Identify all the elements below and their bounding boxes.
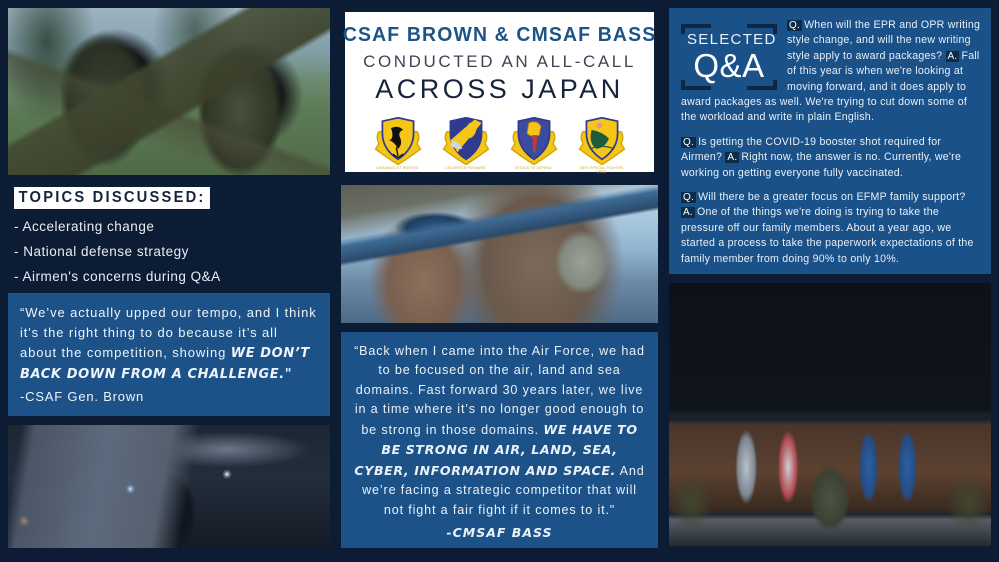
quote-card-csaf-brown: “We’ve actually upped our tempo, and I t… xyxy=(8,293,330,416)
answer-tag: A. xyxy=(725,152,739,163)
title-card: CSAF BROWN & CMSAF BASS CONDUCTED AN ALL… xyxy=(341,8,658,176)
title-line-1: CSAF BROWN & CMSAF BASS xyxy=(343,24,656,47)
badge-qa-label: Q&A xyxy=(687,49,771,82)
center-column: CSAF BROWN & CMSAF BASS CONDUCTED AN ALL… xyxy=(341,8,658,548)
topics-heading: TOPICS DISCUSSED: xyxy=(14,187,210,209)
selected-qa-badge: SELECTED Q&A xyxy=(681,24,777,90)
photo-all-call-auditorium xyxy=(669,283,991,546)
answer-text: Right now, the answer is no. Currently, … xyxy=(681,151,961,178)
wing-patch-2-motto: CELERITER PUGNARE xyxy=(440,166,492,170)
badge-selected-label: SELECTED xyxy=(687,32,771,47)
bracket-bottom-right-icon xyxy=(747,80,777,90)
quote-text-cmsaf-bass: “Back when I came into the Air Force, we… xyxy=(353,342,646,521)
wing-patch-4: 35TH SPECIAL FIGHTER WING xyxy=(576,114,628,174)
left-column: TOPICS DISCUSSED: - Accelerating change … xyxy=(8,8,330,548)
bracket-bottom-left-icon xyxy=(681,80,711,90)
wing-patch-1-motto: UNGUIBUS ET ROSTRO xyxy=(372,166,424,170)
selected-qa-panel: SELECTED Q&A Q.When will the EPR and OPR… xyxy=(669,8,991,274)
answer-tag: A. xyxy=(681,207,695,218)
right-column: SELECTED Q&A Q.When will the EPR and OPR… xyxy=(669,8,991,548)
quote-text-csaf-brown: “We’ve actually upped our tempo, and I t… xyxy=(20,303,318,385)
wing-patch-2: CELERITER PUGNARE xyxy=(440,114,492,170)
wing-patch-1: UNGUIBUS ET ROSTRO xyxy=(372,114,424,170)
wing-patch-4-motto: 35TH SPECIAL FIGHTER WING xyxy=(576,166,628,174)
shield-icon xyxy=(508,114,560,170)
shield-icon xyxy=(576,114,628,170)
photo-airmen-gas-masks xyxy=(8,8,330,175)
topic-item-3: - Airmen's concerns during Q&A xyxy=(14,269,328,284)
topic-item-2: - National defense strategy xyxy=(14,244,328,259)
topic-item-1: - Accelerating change xyxy=(14,219,328,234)
shield-icon xyxy=(440,114,492,170)
topics-discussed-block: TOPICS DISCUSSED: - Accelerating change … xyxy=(8,184,330,284)
bracket-top-left-icon xyxy=(681,24,711,34)
quote-attribution-cmsaf-bass: -CMSAF BASS xyxy=(353,525,646,540)
photo-airman-closeup xyxy=(341,185,658,323)
wing-patch-3-motto: ATTACK TO DEFEND xyxy=(508,166,560,170)
title-line-2: CONDUCTED AN ALL-CALL xyxy=(363,52,636,72)
question-tag: Q. xyxy=(787,20,802,31)
question-tag: Q. xyxy=(681,137,696,148)
shield-icon xyxy=(372,114,424,170)
title-line-3: ACROSS JAPAN xyxy=(375,74,624,105)
qa-item-3: Q.Will there be a greater focus on EFMP … xyxy=(681,190,981,267)
photo-night-flightline-marshaller xyxy=(8,425,330,548)
qa-item-2: Q.Is getting the COVID-19 booster shot r… xyxy=(681,135,981,181)
answer-tag: A. xyxy=(946,51,960,62)
wing-patch-row: UNGUIBUS ET ROSTRO CELERITER PUGNARE xyxy=(372,114,628,174)
infographic-poster: TOPICS DISCUSSED: - Accelerating change … xyxy=(0,0,999,562)
question-text: Will there be a greater focus on EFMP fa… xyxy=(698,191,965,203)
wing-patch-3: ATTACK TO DEFEND xyxy=(508,114,560,170)
bracket-top-right-icon xyxy=(747,24,777,34)
quote-attribution-csaf-brown: -CSAF Gen. Brown xyxy=(20,389,318,404)
question-tag: Q. xyxy=(681,192,696,203)
quote-card-cmsaf-bass: “Back when I came into the Air Force, we… xyxy=(341,332,658,549)
answer-text: One of the things we're doing is trying … xyxy=(681,206,974,264)
